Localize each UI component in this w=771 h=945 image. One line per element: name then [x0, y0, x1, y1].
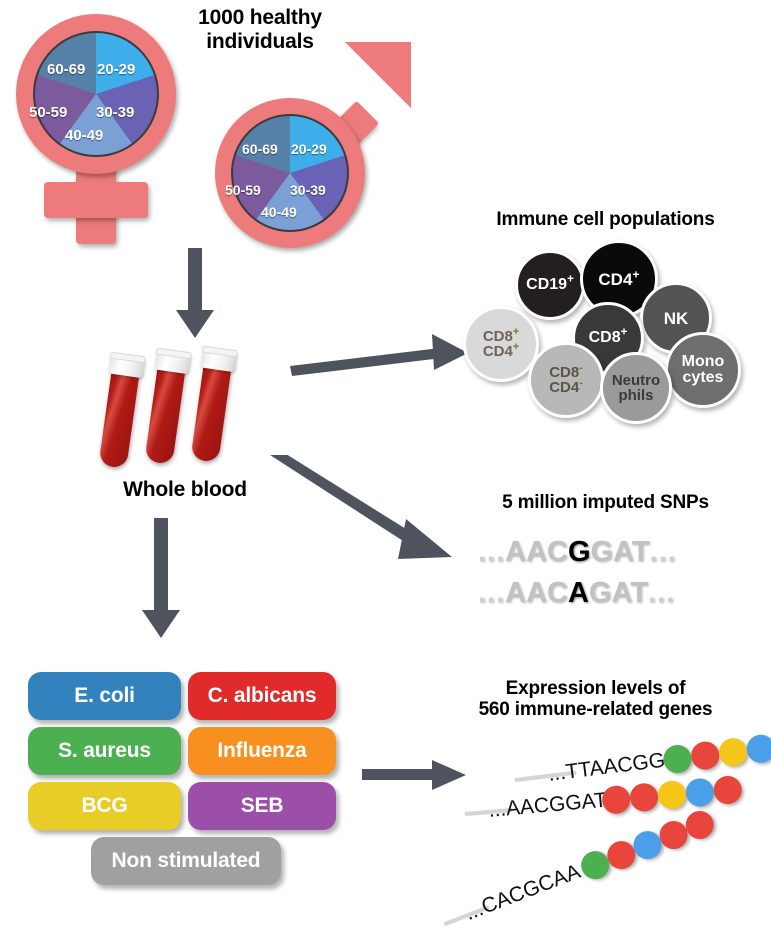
stimulation-chip-s-aureus[interactable]: S. aureus	[28, 727, 181, 775]
stimulation-chip-seb[interactable]: SEB	[188, 782, 336, 830]
snp-trail-dots: ...	[650, 536, 677, 568]
cell-neutrophils: Neutro phils	[600, 352, 672, 424]
strand-sequence: ...AACGGAT	[488, 789, 608, 823]
gene-strands: ...TTAACGG ...AACGGAT ...CACGCAA	[455, 748, 771, 913]
superscript-minus: -	[579, 362, 583, 374]
snp-sequence-row: ...AACGGAT...	[478, 536, 677, 569]
snp-suffix: GAT	[591, 536, 650, 568]
chip-label: BCG	[81, 794, 127, 818]
snp-variant-allele: G	[568, 536, 591, 568]
chip-label: E. coli	[74, 684, 134, 708]
cell-cd19p: CD19+	[515, 250, 585, 320]
cell-label: Mono cytes	[682, 354, 725, 386]
gene-bead	[690, 740, 721, 771]
male-pie-label-60-69: 60-69	[242, 141, 278, 157]
snp-prefix: AAC	[505, 577, 568, 609]
male-pie-label-40-49: 40-49	[261, 204, 297, 220]
tube-blood-fill	[144, 362, 186, 465]
chip-label: C. albicans	[208, 684, 317, 708]
arrow-blood-to-stim	[138, 518, 184, 640]
tube-blood-fill	[98, 366, 140, 469]
gene-bead	[745, 733, 771, 764]
superscript-plus: +	[621, 327, 628, 339]
stimulation-chip-e-coli[interactable]: E. coli	[28, 672, 181, 720]
gene-bead	[717, 737, 748, 768]
pie-label-30-39: 30-39	[96, 104, 134, 121]
genes-title: Expression levels of 560 immune-related …	[420, 678, 771, 721]
superscript-plus: +	[567, 274, 574, 286]
immune-cell-cluster: CD8+ CD4+ CD19+ CD4+ NK CD8+	[460, 240, 760, 425]
superscript-plus: +	[513, 341, 519, 353]
chip-label: SEB	[241, 794, 284, 818]
cell-monocytes: Mono cytes	[665, 332, 741, 408]
female-symbol: 20-29 30-39 40-49 50-59 60-69	[8, 14, 188, 254]
cell-label: NK	[664, 310, 689, 327]
male-pie-label-50-59: 50-59	[225, 182, 261, 198]
cell-label: Neutro phils	[612, 373, 660, 403]
snp-sequences: ...AACGGAT... ...AACAGAT...	[478, 536, 758, 622]
chip-label: S. aureus	[58, 739, 151, 763]
superscript-plus: +	[632, 267, 639, 281]
figure-canvas: 1000 healthy individuals 20-29 30-39 40-…	[0, 0, 771, 922]
gene-bead	[657, 780, 687, 810]
snp-lead-dots: ...	[478, 536, 505, 568]
gene-bead	[662, 743, 693, 774]
tube-blood-fill	[190, 360, 232, 463]
male-arrow-head-fill	[345, 42, 411, 108]
cell-cd8n-cd4n: CD8- CD4-	[528, 342, 604, 418]
male-age-pie: 20-29 30-39 40-49 50-59 60-69	[231, 114, 349, 232]
stimulation-chip-influenza[interactable]: Influenza	[188, 727, 336, 775]
female-crossbar	[44, 182, 148, 218]
snp-suffix: GAT	[589, 577, 648, 609]
snp-variant-allele: A	[568, 577, 589, 609]
pie-label-20-29: 20-29	[97, 61, 135, 78]
male-symbol: 20-29 30-39 40-49 50-59 60-69	[205, 38, 420, 253]
arrow-blood-to-cells	[290, 330, 470, 380]
cohort-title-line1: 1000 healthy	[160, 6, 360, 30]
genes-title-line1: Expression levels of	[420, 678, 771, 699]
male-pie-label-20-29: 20-29	[291, 141, 327, 157]
pie-label-40-49: 40-49	[65, 127, 103, 144]
chip-label: Non stimulated	[112, 849, 261, 873]
superscript-minus: -	[579, 377, 583, 389]
strand-sequence: ...CACGCAA	[462, 860, 584, 926]
male-pie-label-30-39: 30-39	[290, 182, 326, 198]
immune-title: Immune cell populations	[440, 209, 771, 230]
arrow-stim-to-genes	[362, 758, 468, 792]
cell-label: CD4+	[598, 271, 639, 288]
snp-trail-dots: ...	[648, 577, 675, 609]
cell-label: CD8- CD4-	[549, 365, 583, 395]
blood-tubes	[110, 348, 260, 473]
cell-cd8p-cd4p: CD8+ CD4+	[463, 306, 539, 382]
female-age-pie: 20-29 30-39 40-49 50-59 60-69	[33, 31, 159, 157]
pie-label-50-59: 50-59	[29, 104, 67, 121]
cell-label: CD19+	[526, 277, 574, 293]
cell-label: CD8+	[589, 330, 628, 346]
snp-sequence-row: ...AACAGAT...	[478, 577, 675, 610]
snp-lead-dots: ...	[478, 577, 505, 609]
pie-label-60-69: 60-69	[47, 61, 85, 78]
cell-label: CD8+ CD4+	[483, 329, 519, 359]
gene-bead	[629, 782, 659, 812]
stimulation-panel: E. coli C. albicans S. aureus Influenza …	[28, 672, 338, 900]
chip-label: Influenza	[217, 739, 306, 763]
stimulation-chip-c-albicans[interactable]: C. albicans	[188, 672, 336, 720]
snp-title: 5 million imputed SNPs	[440, 492, 771, 513]
arrow-cohort-to-blood	[172, 248, 218, 340]
stimulation-chip-non-stimulated[interactable]: Non stimulated	[91, 837, 281, 885]
stimulation-chip-bcg[interactable]: BCG	[28, 782, 181, 830]
genes-title-line2: 560 immune-related genes	[420, 699, 771, 720]
snp-prefix: AAC	[505, 536, 568, 568]
superscript-plus: +	[513, 326, 519, 338]
